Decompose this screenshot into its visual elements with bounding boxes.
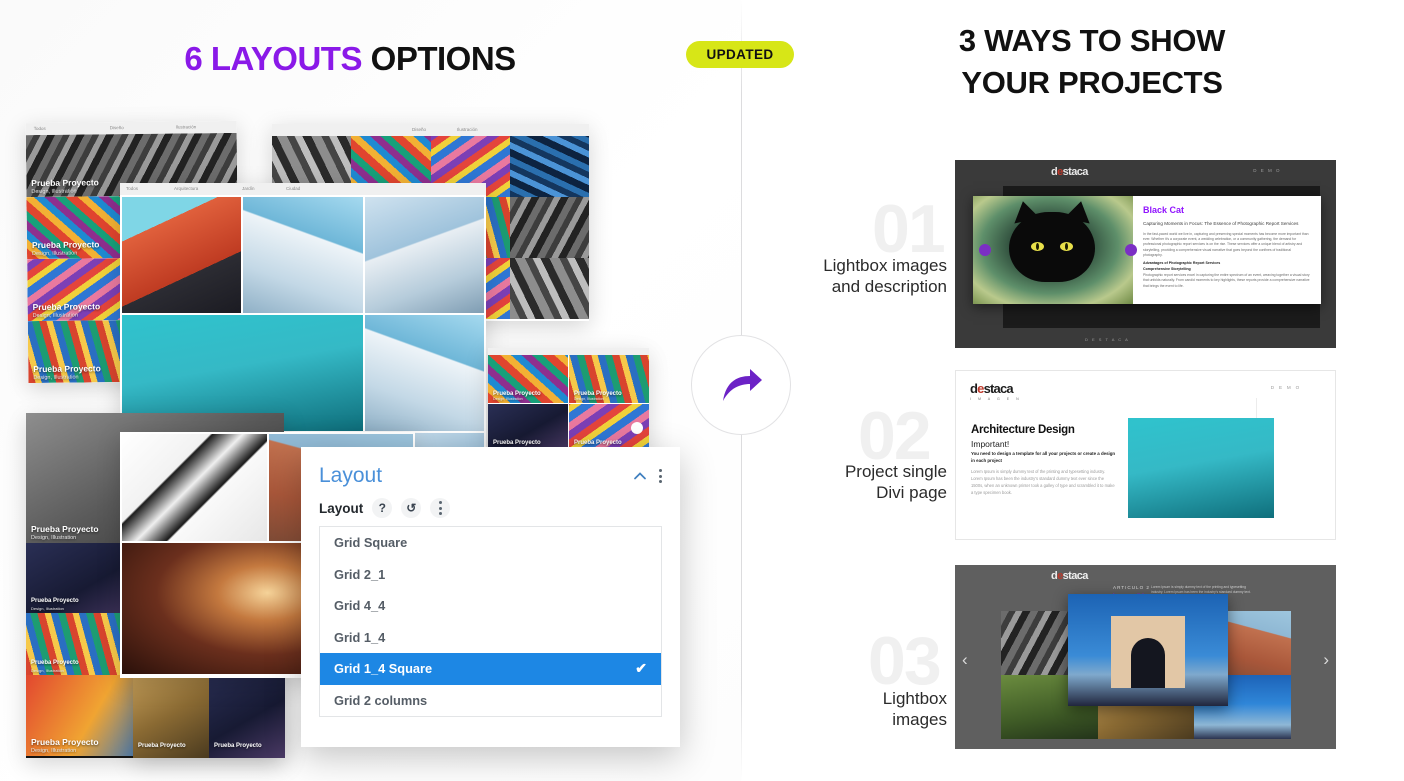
card-title: Prueba Proyecto xyxy=(31,524,99,534)
poster-root: 6 LAYOUTS OPTIONS UPDATED 3 WAYS TO SHOW… xyxy=(0,0,1404,781)
way-caption-02-line1: Project single xyxy=(740,461,947,482)
way-caption-03-line1: Lightbox xyxy=(740,688,947,709)
card-title: Prueba Proyecto xyxy=(31,177,99,188)
way-caption-02: Project single Divi page xyxy=(740,461,947,504)
lightbox-prev-button[interactable] xyxy=(979,244,991,256)
shot3-label: ARTICULO 2 xyxy=(1113,585,1150,590)
shot1-logo: destaca xyxy=(1051,166,1088,178)
shot2-logo-sub: I M A G E N xyxy=(970,397,1022,401)
card-title: Prueba Proyecto xyxy=(33,301,101,312)
filter-tab-todos[interactable]: Todos xyxy=(34,126,46,131)
preview-shot-project-single[interactable]: destaca I M A G E N D E M O Architecture… xyxy=(955,370,1336,540)
check-icon: ✔ xyxy=(635,660,647,677)
popup-title: Layout xyxy=(319,464,632,488)
filter-bar-b[interactable]: Diseño Ilustración xyxy=(272,124,589,136)
slider-prev-icon[interactable]: ‹ xyxy=(962,650,968,670)
gallery-thumb[interactable] xyxy=(243,197,362,313)
card-title: Prueba Proyecto xyxy=(493,440,541,446)
cat-silhouette xyxy=(1009,212,1095,282)
filter-tab-b2[interactable]: Ilustración xyxy=(457,127,478,132)
card-action-icon[interactable] xyxy=(631,422,643,434)
shot2-subtitle: Important! xyxy=(971,439,1009,449)
way-caption-03: Lightbox images xyxy=(740,688,947,731)
field-kebab-icon[interactable] xyxy=(430,498,450,518)
filter-tab-c2[interactable]: Arquitectura xyxy=(174,186,198,191)
way-caption-02-line2: Divi page xyxy=(740,482,947,503)
layout-option[interactable]: Grid 2 columns xyxy=(320,685,661,717)
gallery-card[interactable]: Prueba Proyecto xyxy=(209,670,285,758)
gallery-thumb[interactable] xyxy=(510,197,589,258)
layout-option-label: Grid Square xyxy=(334,535,407,550)
lightbox-heading-3: Comprehensive Storytelling xyxy=(1143,267,1311,271)
gallery-thumb[interactable] xyxy=(365,315,484,431)
layout-field-label: Layout xyxy=(319,501,363,516)
gallery-card[interactable]: Prueba Proyecto xyxy=(488,404,568,452)
card-subtitle: Design, Illustration xyxy=(33,375,78,381)
layout-option[interactable]: Grid 4_4 xyxy=(320,590,661,622)
filter-tab-b1[interactable]: Diseño xyxy=(412,127,426,132)
card-subtitle: Design, Illustration xyxy=(33,313,78,319)
shot1-logo-accent: e xyxy=(1057,166,1063,178)
lightbox-heading-2: Advantages of Photographic Report Servic… xyxy=(1143,261,1311,265)
layout-option-label: Grid 4_4 xyxy=(334,598,385,613)
chevron-up-icon[interactable] xyxy=(632,468,648,484)
left-heading: 6 LAYOUTS OPTIONS xyxy=(0,40,700,78)
filter-tab-c3[interactable]: Jardín xyxy=(242,186,255,191)
card-subtitle: Design, Illustration xyxy=(32,251,77,257)
filter-bar-g[interactable] xyxy=(488,348,649,355)
lightbox-next-button[interactable] xyxy=(1125,244,1137,256)
card-title: Prueba Proyecto xyxy=(574,440,622,446)
help-icon[interactable]: ? xyxy=(372,498,392,518)
filter-bar-c[interactable]: Todos Arquitectura Jardín Ciudad xyxy=(120,183,486,195)
gallery-card[interactable]: Prueba Proyecto xyxy=(569,404,649,452)
card-title: Prueba Proyecto xyxy=(31,598,79,604)
lightbox-subtitle: Capturing Moments in Focus: The Essence … xyxy=(1143,221,1311,228)
filter-tab-c1[interactable]: Todos xyxy=(126,186,138,191)
right-heading-line1: 3 WAYS TO SHOW xyxy=(780,20,1404,62)
lightbox-paragraph-1: In the fast-paced world we live in, capt… xyxy=(1143,232,1311,258)
right-heading: 3 WAYS TO SHOW YOUR PROJECTS xyxy=(780,20,1404,104)
gallery-thumb[interactable] xyxy=(365,197,484,313)
layout-option-label: Grid 1_4 xyxy=(334,630,385,645)
card-title: Prueba Proyecto xyxy=(138,743,186,749)
layout-option-selected[interactable]: Grid 1_4 Square ✔ xyxy=(320,653,661,685)
card-subtitle: Design, Illustration xyxy=(574,397,604,401)
card-title: Prueba Proyecto xyxy=(214,743,262,749)
card-subtitle: Design, Illustration xyxy=(493,397,523,401)
card-subtitle: Design, Illustration xyxy=(31,606,64,611)
gallery-card[interactable]: Prueba Proyecto Design, Illustration xyxy=(569,355,649,403)
left-heading-rest: OPTIONS xyxy=(362,40,516,77)
gallery-thumb[interactable] xyxy=(122,434,267,541)
shot1-footer-label: D E S T A C A xyxy=(1085,337,1129,342)
cat-eye-left xyxy=(1031,242,1044,251)
lightbox-modal[interactable]: Black Cat Capturing Moments in Focus: Th… xyxy=(973,196,1321,304)
card-title: Prueba Proyecto xyxy=(33,363,101,374)
way-caption-01-line2: and description xyxy=(740,276,947,297)
card-subtitle: Design, Illustration xyxy=(31,535,76,541)
slider-next-icon[interactable]: › xyxy=(1323,650,1329,670)
card-title: Prueba Proyecto xyxy=(31,660,79,666)
card-title: Prueba Proyecto xyxy=(31,737,99,747)
card-subtitle: Design, Illustration xyxy=(31,748,76,754)
preview-shot-lightbox-images[interactable]: destaca ARTICULO 2 Imagen slider Lorem I… xyxy=(955,565,1336,749)
curved-arrow-icon xyxy=(718,365,764,405)
gallery-panel-g[interactable]: Prueba Proyecto Design, Illustration Pru… xyxy=(488,348,649,452)
filter-tab-diseno[interactable]: Diseño xyxy=(110,125,124,130)
gallery-card[interactable]: Prueba Proyecto Design, Illustration xyxy=(488,355,568,403)
layout-field-row: Layout ? ↺ xyxy=(301,494,680,526)
gallery-thumb[interactable] xyxy=(510,258,589,319)
shot1-footer: D E S T A C A xyxy=(955,332,1336,348)
reset-icon[interactable]: ↺ xyxy=(401,498,421,518)
flow-arrow-circle xyxy=(691,335,791,435)
lightbox-image-black-cat xyxy=(973,196,1133,304)
card-subtitle: Design, Illustration xyxy=(31,668,64,673)
way-caption-01-line1: Lightbox images xyxy=(740,255,947,276)
layout-option-label: Grid 2_1 xyxy=(334,567,385,582)
shot2-project-image xyxy=(1128,418,1274,518)
way-caption-03-line2: images xyxy=(740,709,947,730)
way-caption-01: Lightbox images and description xyxy=(740,255,947,298)
cat-eye-right xyxy=(1060,242,1073,251)
popup-kebab-icon[interactable] xyxy=(658,469,662,483)
lightbox-title: Black Cat xyxy=(1143,205,1311,215)
layout-option[interactable]: Grid Square xyxy=(320,527,661,559)
layout-options-list[interactable]: Grid Square Grid 2_1 Grid 4_4 Grid 1_4 G… xyxy=(319,526,662,717)
shot2-demo-label: D E M O xyxy=(1271,385,1301,390)
left-heading-highlight: 6 LAYOUTS xyxy=(184,40,362,77)
card-title: Prueba Proyecto xyxy=(32,239,100,250)
filter-tab-c4[interactable]: Ciudad xyxy=(286,186,300,191)
lightbox-text-panel: Black Cat Capturing Moments in Focus: Th… xyxy=(1133,196,1321,304)
layout-option-label: Grid 2 columns xyxy=(334,693,427,708)
updated-badge: UPDATED xyxy=(686,41,794,68)
gallery-card[interactable]: Prueba Proyecto xyxy=(133,670,209,758)
gallery-thumb[interactable] xyxy=(122,197,241,313)
card-subtitle: Design, Illustration xyxy=(31,189,76,195)
shot2-logo: destaca I M A G E N xyxy=(970,381,1022,401)
shot2-title: Architecture Design xyxy=(971,424,1075,436)
layout-option-label: Grid 1_4 Square xyxy=(334,661,432,676)
preview-shot-lightbox-description[interactable]: destaca D E M O C A S A A C E R C A C O … xyxy=(955,160,1336,348)
arc-de-triomphe-shape xyxy=(1111,616,1185,688)
popup-header: Layout xyxy=(301,447,680,494)
shot3-logo: destaca xyxy=(1051,570,1088,582)
gallery-panel-e[interactable]: Prueba Proyecto Prueba Proyecto xyxy=(133,670,285,758)
layout-settings-popup[interactable]: Layout Layout ? ↺ Grid Square Grid 2_1 G… xyxy=(301,447,680,747)
right-heading-line2: YOUR PROJECTS xyxy=(780,62,1404,104)
lightbox-paragraph-2: Photographic report services excel in ca… xyxy=(1143,273,1311,289)
shot2-bold-text: You need to design a template for all yo… xyxy=(971,450,1119,464)
gallery-thumb[interactable] xyxy=(510,136,589,197)
shot2-body-text: Lorem Ipsum is simply dummy text of the … xyxy=(971,468,1117,497)
shot3-lightbox-image-arc[interactable] xyxy=(1068,594,1228,706)
layout-option[interactable]: Grid 2_1 xyxy=(320,559,661,591)
layout-option[interactable]: Grid 1_4 xyxy=(320,622,661,654)
filter-tab-ilustracion[interactable]: Ilustración xyxy=(176,124,197,129)
shot1-demo-label: D E M O xyxy=(1253,168,1281,173)
